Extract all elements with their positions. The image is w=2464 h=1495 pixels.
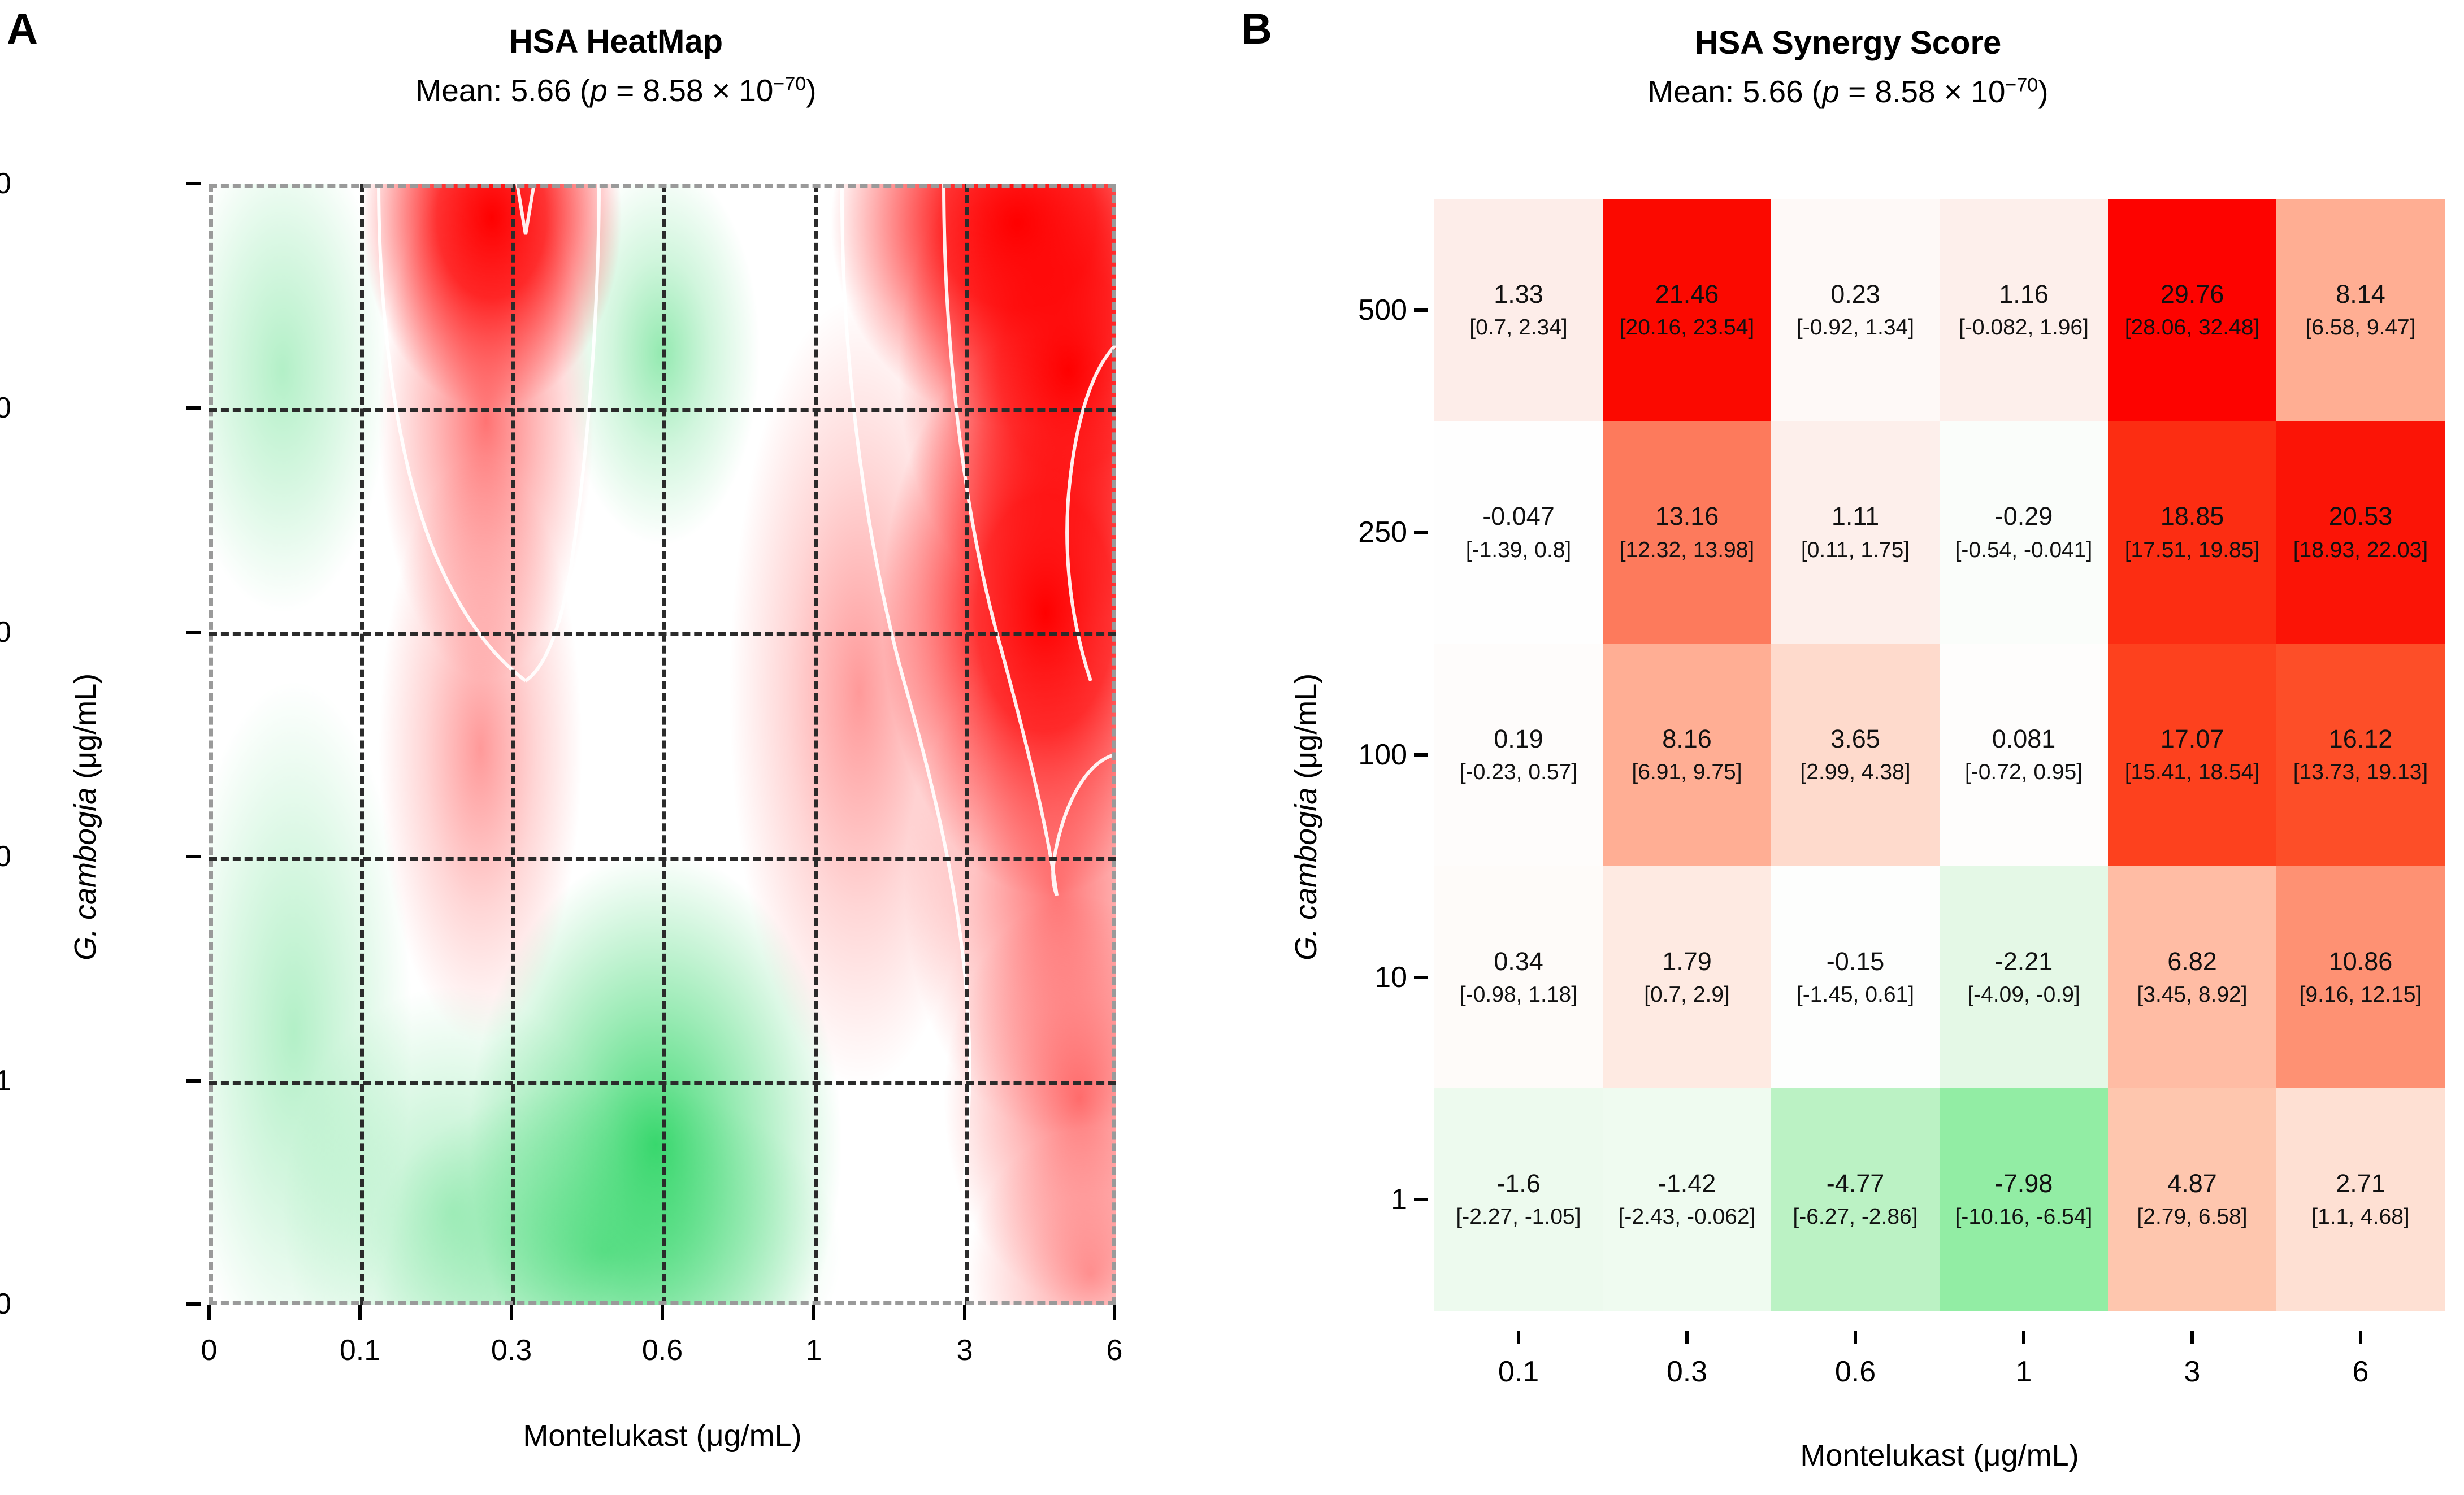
heatmap-cell: 3.65[2.99, 4.38] xyxy=(1771,644,1940,866)
panel-b-subtitle: Mean: 5.66 (p = 8.58 × 10−70) xyxy=(1232,73,2464,110)
tick-mark-y-1 xyxy=(186,1079,201,1083)
panel-b-paren-close: ) xyxy=(2038,74,2048,109)
cell-value: -7.98 xyxy=(1995,1170,2053,1197)
panel-a-y-axis-species: G. cambogia xyxy=(68,788,102,961)
gridline-x-3 xyxy=(965,184,969,1305)
heatmap-cell: 18.85[17.51, 19.85] xyxy=(2108,421,2276,644)
tick-mark-x-3 xyxy=(2190,1331,2194,1344)
tick-mark-y-500 xyxy=(1414,308,1428,312)
cell-confidence-interval: [1.1, 4.68] xyxy=(2311,1206,2409,1229)
cell-confidence-interval: [9.16, 12.15] xyxy=(2300,984,2422,1007)
tick-mark-y-1 xyxy=(1414,1198,1428,1201)
cell-value: 0.081 xyxy=(1992,725,2056,752)
tick-label-y-500: 500 xyxy=(1305,293,1407,327)
panel-b-y-axis-title: G. cambogia (μg/mL) xyxy=(1289,673,1324,961)
panel-b-p-symbol: p xyxy=(1822,74,1840,109)
cell-value: 10.86 xyxy=(2329,948,2393,975)
cell-confidence-interval: [2.99, 4.38] xyxy=(1800,761,1910,784)
gridline-x-0 xyxy=(209,184,213,1305)
cell-value: 21.46 xyxy=(1655,281,1719,307)
heatmap-cell: 0.34[-0.98, 1.18] xyxy=(1434,866,1603,1089)
cell-confidence-interval: [20.16, 23.54] xyxy=(1620,316,1755,340)
tick-label-x-3: 3 xyxy=(2184,1355,2201,1389)
tick-label-y-100: 100 xyxy=(0,615,11,649)
panel-a-y-axis-units: (μg/mL) xyxy=(68,673,102,788)
gridline-x-0.3 xyxy=(511,184,515,1305)
cell-value: 4.87 xyxy=(2167,1170,2217,1197)
tick-mark-x-0.1 xyxy=(1517,1331,1520,1344)
cell-confidence-interval: [12.32, 13.98] xyxy=(1620,539,1755,562)
tick-mark-y-100 xyxy=(1414,753,1428,757)
tick-mark-y-100 xyxy=(186,631,201,634)
cell-value: 0.19 xyxy=(1494,725,1543,752)
cell-value: 0.23 xyxy=(1830,281,1880,307)
tick-mark-y-250 xyxy=(186,406,201,410)
heatmap-cell: 0.23[-0.92, 1.34] xyxy=(1771,199,1940,421)
gridline-y-500 xyxy=(209,184,1116,188)
gridline-x-6 xyxy=(1112,184,1116,1305)
cell-confidence-interval: [6.91, 9.75] xyxy=(1632,761,1742,784)
cell-confidence-interval: [13.73, 19.13] xyxy=(2293,761,2428,784)
cell-confidence-interval: [3.45, 8.92] xyxy=(2137,984,2247,1007)
tick-mark-x-1 xyxy=(812,1305,815,1320)
cell-value: 6.82 xyxy=(2167,948,2217,975)
tick-label-x-0.1: 0.1 xyxy=(340,1333,380,1367)
cell-value: 29.76 xyxy=(2161,281,2224,307)
cell-confidence-interval: [6.58, 9.47] xyxy=(2305,316,2415,340)
tick-label-y-10: 10 xyxy=(0,840,11,873)
cell-value: -0.29 xyxy=(1995,503,2053,529)
heatmap-cell: 17.07[15.41, 18.54] xyxy=(2108,644,2276,866)
tick-label-y-10: 10 xyxy=(1305,961,1407,994)
heatmap-cell: 8.16[6.91, 9.75] xyxy=(1603,644,1771,866)
cell-value: 8.16 xyxy=(1662,725,1712,752)
tick-label-x-3: 3 xyxy=(957,1333,973,1367)
heatmap-cell: 21.46[20.16, 23.54] xyxy=(1603,199,1771,421)
heatmap-cell: 8.14[6.58, 9.47] xyxy=(2276,199,2445,421)
panel-a-p-exponent: −70 xyxy=(773,73,806,95)
heatmap-cell: 0.081[-0.72, 0.95] xyxy=(1940,644,2108,866)
heatmap-cell: 4.87[2.79, 6.58] xyxy=(2108,1088,2276,1311)
tick-label-x-0.3: 0.3 xyxy=(1667,1355,1707,1389)
tick-mark-x-0.6 xyxy=(1854,1331,1857,1344)
heatmap-cell: -0.29[-0.54, -0.041] xyxy=(1940,421,2108,644)
cell-confidence-interval: [0.11, 1.75] xyxy=(1801,539,1910,562)
panel-b: B HSA Synergy Score Mean: 5.66 (p = 8.58… xyxy=(1232,0,2464,1495)
panel-b-mean-prefix: Mean: 5.66 ( xyxy=(1647,74,1822,109)
heatmap-cell: 10.86[9.16, 12.15] xyxy=(2276,866,2445,1089)
cell-confidence-interval: [28.06, 32.48] xyxy=(2125,316,2260,340)
panel-a: A HSA HeatMap Mean: 5.66 (p = 8.58 × 10−… xyxy=(0,0,1232,1495)
panel-a-subtitle: Mean: 5.66 (p = 8.58 × 10−70) xyxy=(0,72,1232,108)
heatmap-cell: -4.77[-6.27, -2.86] xyxy=(1771,1088,1940,1311)
tick-mark-x-0.6 xyxy=(661,1305,664,1320)
gridline-y-0 xyxy=(209,1301,1116,1305)
cell-value: 17.07 xyxy=(2161,725,2224,752)
cell-confidence-interval: [-1.39, 0.8] xyxy=(1466,539,1571,562)
panel-a-x-axis-title: Montelukast (μg/mL) xyxy=(523,1418,801,1453)
panel-a-contour-heatmap xyxy=(209,184,1116,1305)
gridline-x-0.6 xyxy=(662,184,666,1305)
cell-confidence-interval: [2.79, 6.58] xyxy=(2137,1206,2247,1229)
tick-label-y-1: 1 xyxy=(0,1064,11,1098)
cell-confidence-interval: [-0.72, 0.95] xyxy=(1965,761,2083,784)
heatmap-cell: 0.19[-0.23, 0.57] xyxy=(1434,644,1603,866)
panel-b-y-axis-units: (μg/mL) xyxy=(1289,673,1323,788)
cell-value: 3.65 xyxy=(1830,725,1880,752)
gridline-x-0.1 xyxy=(360,184,364,1305)
tick-label-x-1: 1 xyxy=(2016,1355,2032,1389)
tick-label-y-250: 250 xyxy=(0,391,11,425)
heatmap-cell: 16.12[13.73, 19.13] xyxy=(2276,644,2445,866)
panel-b-y-axis-species: G. cambogia xyxy=(1289,788,1323,961)
panel-b-x-axis-title: Montelukast (μg/mL) xyxy=(1800,1438,2079,1473)
tick-label-x-0.6: 0.6 xyxy=(642,1333,683,1367)
tick-mark-y-10 xyxy=(186,855,201,858)
panel-a-p-symbol: p xyxy=(590,73,608,108)
cell-confidence-interval: [-1.45, 0.61] xyxy=(1797,984,1914,1007)
heatmap-cell: 2.71[1.1, 4.68] xyxy=(2276,1088,2445,1311)
gridline-y-1 xyxy=(209,1081,1116,1085)
tick-mark-y-0 xyxy=(186,1302,201,1306)
cell-confidence-interval: [-0.98, 1.18] xyxy=(1460,984,1577,1007)
heatmap-cell: 1.79[0.7, 2.9] xyxy=(1603,866,1771,1089)
tick-label-x-6: 6 xyxy=(2353,1355,2369,1389)
panel-b-p-value: = 8.58 × 10 xyxy=(1840,74,2006,109)
tick-mark-x-1 xyxy=(2022,1331,2025,1344)
tick-label-x-0.1: 0.1 xyxy=(1498,1355,1539,1389)
tick-label-y-250: 250 xyxy=(1305,515,1407,549)
cell-value: 18.85 xyxy=(2161,503,2224,529)
heatmap-cell: 29.76[28.06, 32.48] xyxy=(2108,199,2276,421)
panel-b-title: HSA Synergy Score xyxy=(1232,24,2464,62)
cell-value: 1.11 xyxy=(1832,503,1879,529)
cell-value: 8.14 xyxy=(2336,281,2385,307)
tick-label-x-0.6: 0.6 xyxy=(1835,1355,1876,1389)
cell-confidence-interval: [-0.54, -0.041] xyxy=(1955,539,2093,562)
tick-mark-x-0 xyxy=(207,1305,211,1320)
cell-confidence-interval: [-0.23, 0.57] xyxy=(1460,761,1577,784)
gridline-y-10 xyxy=(209,857,1116,861)
panel-a-paren-close: ) xyxy=(806,73,816,108)
cell-confidence-interval: [-2.27, -1.05] xyxy=(1456,1206,1581,1229)
tick-mark-x-6 xyxy=(1113,1305,1116,1320)
cell-value: -1.42 xyxy=(1658,1170,1716,1197)
heatmap-cell: -0.047[-1.39, 0.8] xyxy=(1434,421,1603,644)
cell-confidence-interval: [0.7, 2.34] xyxy=(1469,316,1567,340)
cell-value: -4.77 xyxy=(1827,1170,1885,1197)
tick-mark-x-0.3 xyxy=(1685,1331,1689,1344)
cell-value: 13.16 xyxy=(1655,503,1719,529)
heatmap-cell: 20.53[18.93, 22.03] xyxy=(2276,421,2445,644)
tick-mark-y-500 xyxy=(186,182,201,185)
panel-a-y-axis-title: G. cambogia (μg/mL) xyxy=(68,673,103,961)
panel-b-p-exponent: −70 xyxy=(2005,75,2038,96)
cell-value: 16.12 xyxy=(2329,725,2393,752)
gridline-x-1 xyxy=(814,184,818,1305)
heatmap-cell: 1.11[0.11, 1.75] xyxy=(1771,421,1940,644)
tick-mark-x-6 xyxy=(2359,1331,2362,1344)
tick-label-x-1: 1 xyxy=(806,1333,822,1367)
heatmap-cell: -1.42[-2.43, -0.062] xyxy=(1603,1088,1771,1311)
cell-value: 1.79 xyxy=(1662,948,1712,975)
cell-value: 0.34 xyxy=(1494,948,1543,975)
synergy-score-grid: 1.33[0.7, 2.34]21.46[20.16, 23.54]0.23[-… xyxy=(1434,199,2445,1311)
tick-label-x-6: 6 xyxy=(1107,1333,1123,1367)
cell-value: 20.53 xyxy=(2329,503,2393,529)
cell-confidence-interval: [-4.09, -0.9] xyxy=(1967,984,2080,1007)
gridline-y-250 xyxy=(209,408,1116,412)
heatmap-cell: 1.33[0.7, 2.34] xyxy=(1434,199,1603,421)
cell-value: 2.71 xyxy=(2336,1170,2385,1197)
tick-mark-y-250 xyxy=(1414,531,1428,534)
tick-label-x-0.3: 0.3 xyxy=(491,1333,532,1367)
cell-value: 1.33 xyxy=(1494,281,1543,307)
cell-confidence-interval: [18.93, 22.03] xyxy=(2293,539,2428,562)
gridline-y-100 xyxy=(209,632,1116,636)
tick-label-y-500: 500 xyxy=(0,167,11,201)
tick-mark-x-3 xyxy=(963,1305,966,1320)
heatmap-cell: -0.15[-1.45, 0.61] xyxy=(1771,866,1940,1089)
cell-confidence-interval: [-0.082, 1.96] xyxy=(1959,316,2089,340)
heatmap-cell: 1.16[-0.082, 1.96] xyxy=(1940,199,2108,421)
cell-value: -1.6 xyxy=(1496,1170,1541,1197)
cell-confidence-interval: [17.51, 19.85] xyxy=(2125,539,2260,562)
panel-a-mean-prefix: Mean: 5.66 ( xyxy=(415,73,590,108)
heatmap-cell: 6.82[3.45, 8.92] xyxy=(2108,866,2276,1089)
panel-a-p-value: = 8.58 × 10 xyxy=(608,73,774,108)
heatmap-cell: -7.98[-10.16, -6.54] xyxy=(1940,1088,2108,1311)
tick-label-y-0: 0 xyxy=(0,1287,11,1321)
cell-confidence-interval: [-6.27, -2.86] xyxy=(1793,1206,1918,1229)
cell-confidence-interval: [0.7, 2.9] xyxy=(1644,984,1730,1007)
panel-a-title: HSA HeatMap xyxy=(0,23,1232,60)
tick-label-y-1: 1 xyxy=(1305,1183,1407,1216)
heatmap-cell: -2.21[-4.09, -0.9] xyxy=(1940,866,2108,1089)
cell-value: 1.16 xyxy=(1999,281,2049,307)
tick-mark-y-10 xyxy=(1414,976,1428,979)
cell-value: -2.21 xyxy=(1995,948,2053,975)
tick-label-x-0: 0 xyxy=(201,1333,218,1367)
tick-mark-x-0.3 xyxy=(510,1305,513,1320)
cell-confidence-interval: [-0.92, 1.34] xyxy=(1797,316,1914,340)
cell-confidence-interval: [-10.16, -6.54] xyxy=(1955,1206,2093,1229)
cell-confidence-interval: [15.41, 18.54] xyxy=(2125,761,2260,784)
cell-value: -0.15 xyxy=(1827,948,1885,975)
cell-value: -0.047 xyxy=(1482,503,1555,529)
cell-confidence-interval: [-2.43, -0.062] xyxy=(1619,1206,1756,1229)
heatmap-cell: -1.6[-2.27, -1.05] xyxy=(1434,1088,1603,1311)
tick-mark-x-0.1 xyxy=(358,1305,362,1320)
heatmap-cell: 13.16[12.32, 13.98] xyxy=(1603,421,1771,644)
